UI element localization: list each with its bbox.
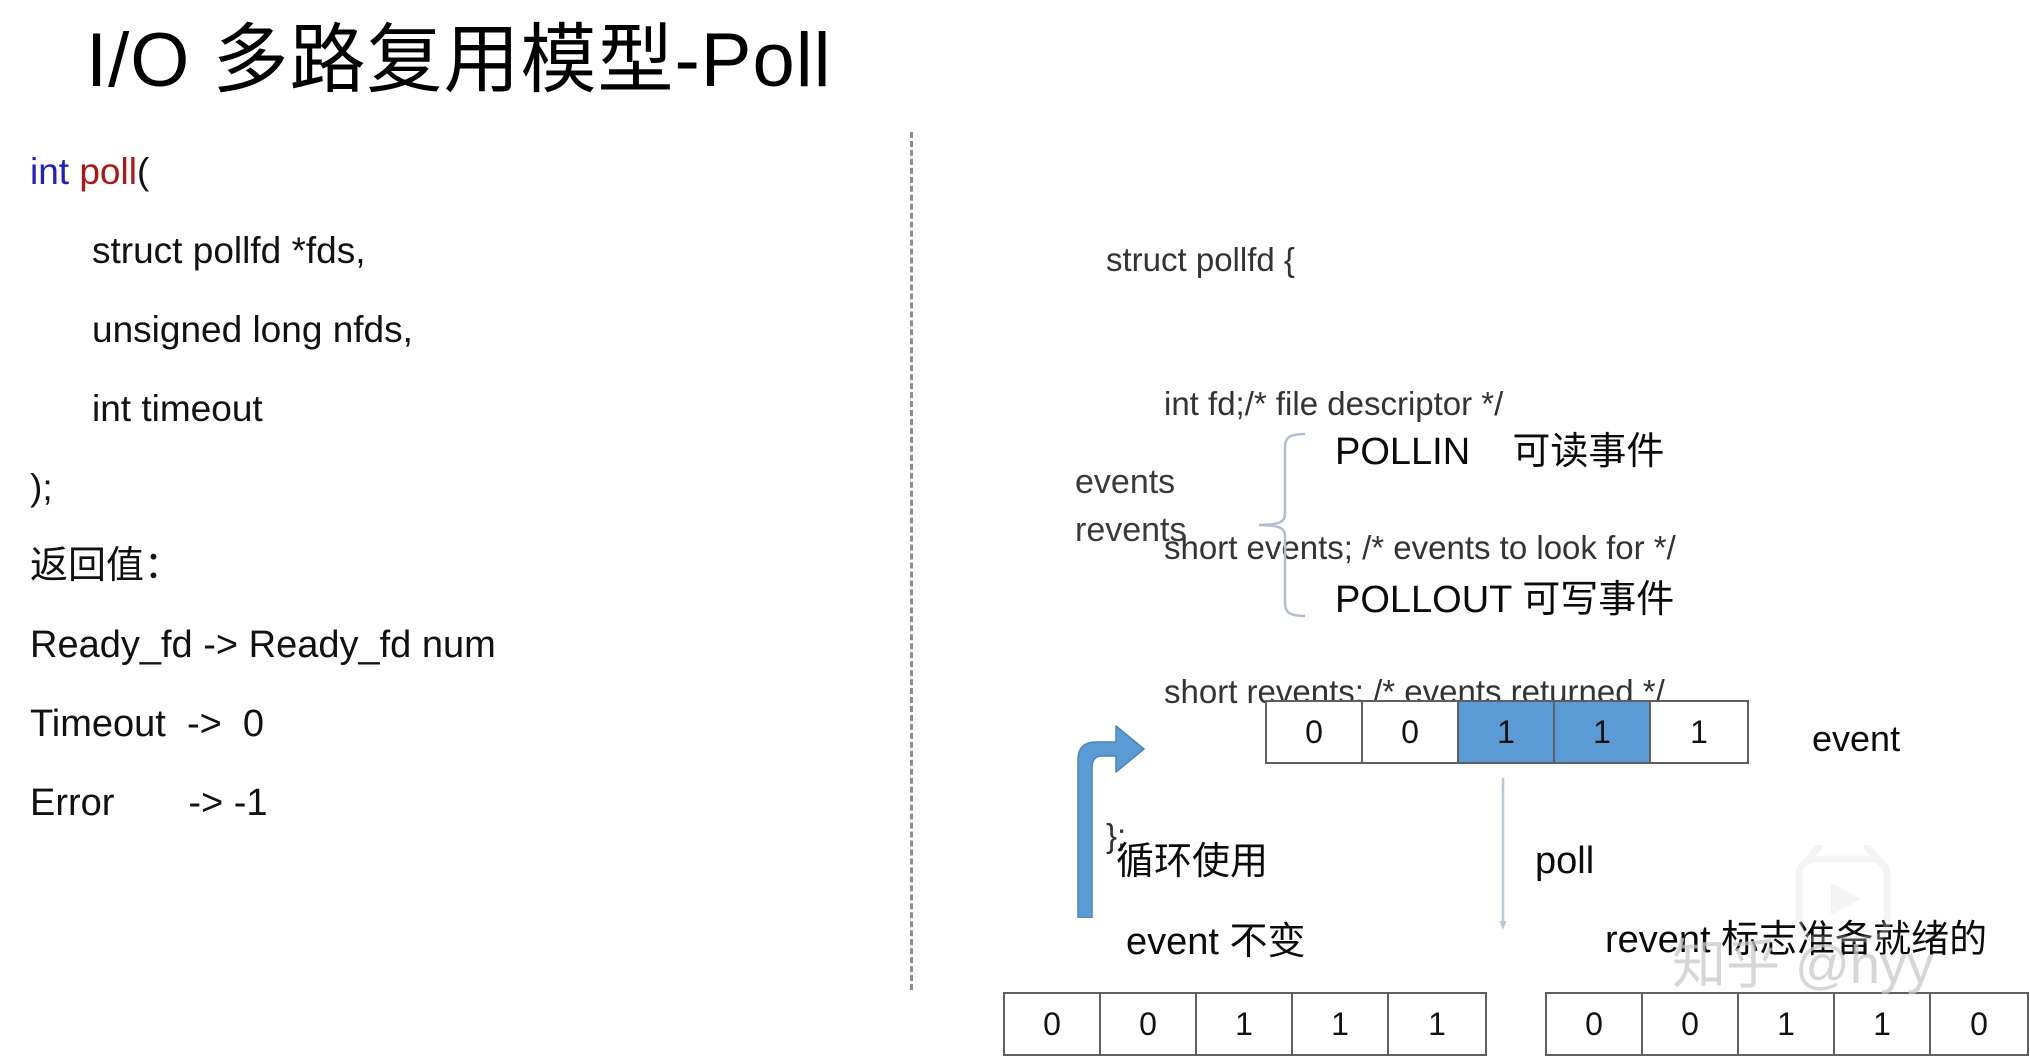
bit-cell: 1 bbox=[1459, 702, 1555, 762]
bit-cell: 1 bbox=[1293, 994, 1389, 1054]
bit-cell: 0 bbox=[1267, 702, 1363, 762]
open-paren: ( bbox=[137, 151, 149, 192]
bit-array-event: 0 0 1 1 1 bbox=[1265, 700, 1749, 764]
bit-array-bottom-right: 0 0 1 1 0 bbox=[1545, 992, 2029, 1056]
bit-cell: 1 bbox=[1739, 994, 1835, 1054]
revent-ready-label: revent 标志准备就绪的 bbox=[1605, 908, 1987, 963]
loop-arrow-icon bbox=[1068, 718, 1148, 918]
vertical-divider bbox=[910, 132, 913, 990]
pollout-flag-text: POLLOUT 可写事件 bbox=[1335, 568, 1674, 623]
bit-array-bottom-left: 0 0 1 1 1 bbox=[1003, 992, 1487, 1056]
poll-label: poll bbox=[1535, 840, 1594, 883]
param-timeout: int timeout bbox=[30, 369, 870, 448]
loop-usage-label: 循环使用 bbox=[1116, 830, 1268, 885]
param-fds: struct pollfd *fds, bbox=[30, 211, 870, 290]
return-row-error: Error -> -1 bbox=[30, 764, 870, 843]
poll-signature-line: int poll( bbox=[30, 132, 870, 211]
events-revents-labels: events revents bbox=[1075, 458, 1187, 554]
bit-cell: 0 bbox=[1643, 994, 1739, 1054]
bit-cell: 1 bbox=[1389, 994, 1485, 1054]
return-row-timeout: Timeout -> 0 bbox=[30, 685, 870, 764]
bit-cell: 0 bbox=[1101, 994, 1197, 1054]
bit-cell: 1 bbox=[1835, 994, 1931, 1054]
page-title: I/O 多路复用模型-Poll bbox=[86, 16, 832, 106]
label-revents: revents bbox=[1075, 506, 1187, 554]
array-event-label: event bbox=[1812, 718, 1900, 760]
struct-open-line: struct pollfd { bbox=[1106, 236, 1676, 284]
slide-canvas: I/O 多路复用模型-Poll int poll( struct pollfd … bbox=[0, 0, 2030, 1062]
bit-cell: 1 bbox=[1197, 994, 1293, 1054]
bit-cell: 1 bbox=[1555, 702, 1651, 762]
return-value-heading: 返回值： bbox=[30, 527, 870, 606]
param-nfds: unsigned long nfds, bbox=[30, 290, 870, 369]
pollin-flag-text: POLLIN 可读事件 bbox=[1335, 420, 1664, 475]
left-column: int poll( struct pollfd *fds, unsigned l… bbox=[30, 132, 870, 843]
curly-brace-icon bbox=[1255, 430, 1309, 620]
bit-cell: 0 bbox=[1363, 702, 1459, 762]
bit-cell: 0 bbox=[1547, 994, 1643, 1054]
signature-close: ); bbox=[30, 448, 870, 527]
keyword-poll: poll bbox=[79, 151, 137, 192]
poll-connector-line bbox=[1498, 778, 1508, 930]
events-flags-group: events revents POLLIN 可读事件 POLLOUT 可写事件 bbox=[1075, 430, 1775, 630]
bit-cell: 1 bbox=[1651, 702, 1747, 762]
keyword-int: int bbox=[30, 151, 69, 192]
bit-cell: 0 bbox=[1931, 994, 2027, 1054]
label-events: events bbox=[1075, 458, 1187, 506]
bit-cell: 0 bbox=[1005, 994, 1101, 1054]
return-row-ready-fd: Ready_fd -> Ready_fd num bbox=[30, 606, 870, 685]
event-unchanged-label: event 不变 bbox=[1126, 910, 1306, 965]
